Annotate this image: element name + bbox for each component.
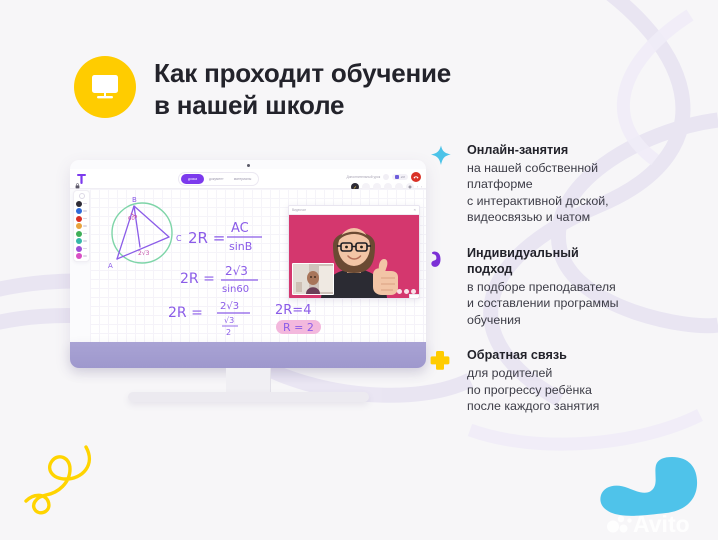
palette-swatch-0[interactable] — [76, 201, 87, 207]
lesson-label: Дополнительный урок — [346, 175, 380, 179]
vertex-c-label: C — [176, 234, 182, 243]
video-inset-feed[interactable] — [292, 263, 334, 295]
svg-text:2: 2 — [226, 328, 231, 337]
swatch-bar — [83, 218, 87, 220]
side-label: 2√3 — [138, 250, 150, 257]
svg-text:sinB: sinB — [229, 240, 252, 253]
plus-icon — [430, 348, 456, 414]
swatch-orange — [76, 223, 82, 229]
app-tab-1[interactable]: документ — [204, 174, 229, 184]
result-r: R = 2 — [283, 321, 314, 334]
feature-text: в подборе преподавателя и составлении пр… — [467, 279, 692, 329]
color-palette[interactable] — [73, 190, 90, 262]
monitor-icon — [74, 56, 136, 118]
crescent-icon-glyph — [430, 248, 452, 270]
swatch-bar — [83, 233, 87, 235]
palette-size-row[interactable] — [79, 193, 85, 199]
swatch-teal — [76, 238, 82, 244]
participants-icon — [395, 175, 399, 179]
monitor-stand-neck — [226, 368, 270, 394]
resize-handle[interactable] — [409, 294, 420, 299]
palette-swatch-1[interactable] — [76, 208, 87, 214]
swatch-bar — [83, 240, 87, 242]
lock-glyph — [75, 183, 80, 189]
svg-text:AC: AC — [231, 221, 249, 236]
page-header: Как проходит обучение в нашей школе — [74, 56, 451, 121]
swatch-bar — [83, 210, 87, 212]
svg-text:2R =: 2R = — [180, 271, 215, 287]
palette-swatch-2[interactable] — [76, 216, 87, 222]
app-toolbar-right: Дополнительный урок 2/2 — [346, 172, 421, 182]
svg-text:√3: √3 — [224, 316, 234, 325]
feature-item-feedback: Обратная связь для родителей по прогресс… — [430, 348, 692, 414]
feature-list: Онлайн-занятия на нашей собственной плат… — [430, 143, 692, 435]
monitor-stand-base — [128, 392, 369, 402]
swatch-bar — [83, 225, 87, 227]
svg-text:2√3: 2√3 — [225, 264, 248, 278]
participants-count: 2/2 — [401, 175, 405, 179]
video-panel-titlebar: Видеочат ✕ — [289, 206, 419, 215]
feature-body: Онлайн-занятия на нашей собственной плат… — [467, 143, 692, 226]
feature-title: Онлайн-занятия — [467, 143, 692, 159]
result-2r: 2R=4 — [275, 303, 311, 318]
monitor-chin — [70, 342, 426, 368]
swatch-bar — [83, 203, 87, 205]
palette-swatch-7[interactable] — [76, 253, 87, 259]
video-panel-title: Видеочат — [292, 208, 306, 212]
star-icon-glyph — [430, 145, 452, 167]
avito-watermark-text: Avito — [633, 511, 690, 536]
poster-canvas: Как проходит обучение в нашей школе доск… — [0, 0, 718, 540]
swatch-black — [76, 201, 82, 207]
swatch-purple — [76, 246, 82, 252]
page-title: Как проходит обучение в нашей школе — [154, 58, 451, 121]
end-call-icon[interactable] — [411, 172, 421, 182]
swatch-blue — [76, 208, 82, 214]
webcam-dot — [247, 164, 250, 167]
settings-icon[interactable] — [383, 174, 389, 180]
yellow-squiggle-decoration — [22, 443, 96, 515]
feature-body: Индивидуальный подход в подборе преподав… — [467, 246, 692, 328]
formula-1: 2R = AC sinB — [188, 221, 262, 253]
feature-item-individual-approach: Индивидуальный подход в подборе преподав… — [430, 246, 692, 328]
svg-text:2R =: 2R = — [188, 229, 225, 247]
swatch-red — [76, 216, 82, 222]
mic-icon[interactable] — [397, 289, 402, 294]
avito-watermark: Avito — [604, 506, 712, 536]
feature-title: Индивидуальный подход — [467, 246, 692, 278]
swatch-bar — [83, 248, 87, 250]
vertex-a-label: A — [108, 262, 113, 270]
palette-swatch-3[interactable] — [76, 223, 87, 229]
feature-text: для родителей по прогрессу ребёнка после… — [467, 365, 692, 415]
crescent-icon — [430, 246, 456, 328]
svg-text:2√3: 2√3 — [220, 301, 239, 312]
angle-label: 60° — [128, 216, 138, 222]
palette-swatch-6[interactable] — [76, 246, 87, 252]
swatch-magenta — [76, 253, 82, 259]
lock-icon[interactable] — [73, 182, 82, 189]
video-main-feed — [289, 215, 419, 298]
formula-2: 2R = 2√3 sin60 — [180, 264, 258, 295]
app-tab-0[interactable]: доска — [181, 174, 204, 184]
feature-title: Обратная связь — [467, 348, 692, 364]
feature-body: Обратная связь для родителей по прогресс… — [467, 348, 692, 414]
feature-text: на нашей собственной платформе с интерак… — [467, 160, 692, 226]
svg-text:2R =: 2R = — [168, 305, 203, 321]
palette-swatch-4[interactable] — [76, 231, 87, 237]
palette-swatch-5[interactable] — [76, 238, 87, 244]
plus-icon-glyph — [430, 350, 450, 370]
close-icon[interactable]: ✕ — [413, 208, 416, 212]
monitor-icon-glyph — [88, 72, 122, 102]
svg-text:sin60: sin60 — [222, 284, 249, 295]
app-tab-group[interactable]: доска документ материалы — [178, 172, 259, 186]
brush-size-icon — [79, 193, 85, 199]
video-chat-panel[interactable]: Видеочат ✕ — [288, 205, 420, 299]
feature-item-online-lessons: Онлайн-занятия на нашей собственной плат… — [430, 143, 692, 226]
phone-hangup-glyph — [413, 174, 419, 180]
app-tab-2[interactable]: материалы — [229, 174, 257, 184]
participants-chip[interactable]: 2/2 — [392, 174, 408, 180]
swatch-bar — [83, 255, 87, 257]
formula-3: 2R = 2√3 √3 2 — [168, 301, 250, 337]
swatch-green — [76, 231, 82, 237]
vertex-b-label: B — [132, 196, 137, 204]
star-icon — [430, 143, 456, 226]
video-inset-illustration — [293, 264, 333, 294]
